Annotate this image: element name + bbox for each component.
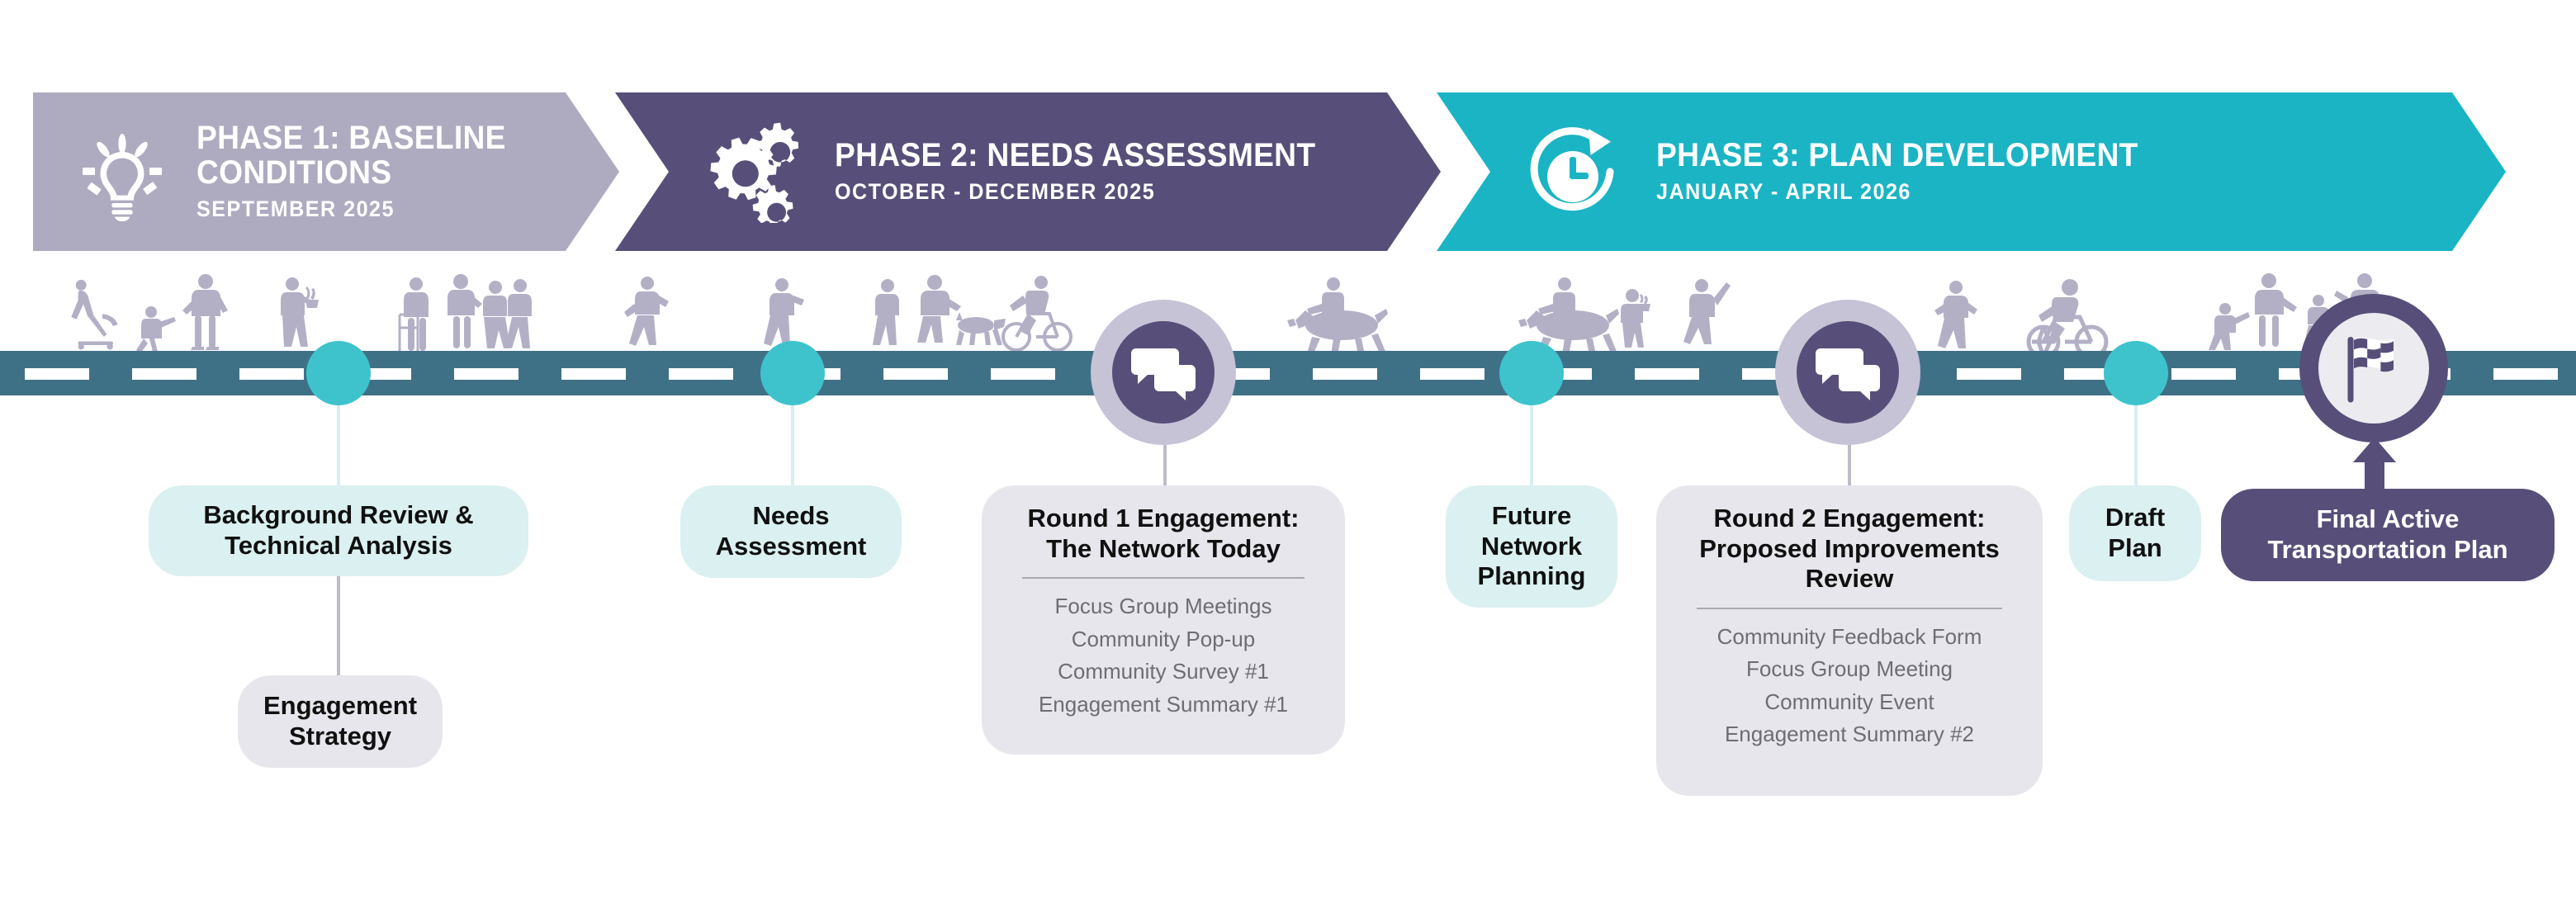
phase-3-text: PHASE 3: PLAN DEVELOPMENT JANUARY - APRI…: [1656, 139, 2175, 205]
lightbulb-icon: [76, 122, 168, 221]
card-round-2-engagement[interactable]: Round 2 Engagement: Proposed Improvement…: [1656, 485, 2043, 796]
clock-arrow-icon: [1527, 121, 1627, 223]
list-item: Community Survey #1: [997, 656, 1330, 689]
phase-1-text: PHASE 1: BASELINE CONDITIONS SEPTEMBER 2…: [197, 121, 529, 221]
milestone-dot-future-network[interactable]: [1499, 341, 1564, 405]
card-title-draft-plan: Draft Plan: [2105, 503, 2165, 563]
card-future-network-planning[interactable]: Future Network Planning: [1446, 485, 1617, 608]
phase-1-title: PHASE 1: BASELINE CONDITIONS: [197, 121, 506, 190]
list-item: Community Feedback Form: [1671, 621, 2028, 654]
phase-1-banner[interactable]: PHASE 1: BASELINE CONDITIONS SEPTEMBER 2…: [33, 92, 619, 251]
people-silhouettes: [0, 272, 2576, 355]
card-title-engagement-strategy: Engagement Strategy: [263, 691, 417, 751]
phase-3-banner[interactable]: PHASE 3: PLAN DEVELOPMENT JANUARY - APRI…: [1437, 92, 2506, 251]
list-item: Focus Group Meeting: [1671, 653, 2028, 686]
list-item: Engagement Summary #2: [1671, 718, 2028, 751]
card-draft-plan[interactable]: Draft Plan: [2069, 485, 2201, 581]
list-item: Engagement Summary #1: [997, 689, 1330, 722]
engagement-marker-round-2[interactable]: [1775, 300, 1920, 445]
gears-icon: [706, 121, 807, 223]
card-final-plan[interactable]: Final Active Transportation Plan: [2221, 489, 2555, 581]
phase-2-banner[interactable]: PHASE 2: NEEDS ASSESSMENT OCTOBER - DECE…: [615, 92, 1441, 251]
phase-3-dates: JANUARY - APRIL 2026: [1656, 179, 2138, 205]
engagement-marker-round-1[interactable]: [1091, 300, 1236, 445]
card-subitems-round-2: Community Feedback Form Focus Group Meet…: [1671, 621, 2028, 751]
phase-2-title: PHASE 2: NEEDS ASSESSMENT: [835, 139, 1315, 173]
milestone-dot-draft-plan[interactable]: [2104, 341, 2168, 405]
card-title-round-1-engagement: Round 1 Engagement: The Network Today: [1028, 504, 1300, 564]
card-subitems-round-1: Focus Group Meetings Community Pop-up Co…: [997, 590, 1330, 721]
card-round-1-engagement[interactable]: Round 1 Engagement: The Network Today Fo…: [982, 485, 1345, 755]
list-item: Community Pop-up: [997, 623, 1330, 656]
card-engagement-strategy[interactable]: Engagement Strategy: [238, 675, 443, 768]
milestone-dot-background-review[interactable]: [306, 341, 371, 405]
phase-2-text: PHASE 2: NEEDS ASSESSMENT OCTOBER - DECE…: [835, 139, 1352, 205]
card-title-final-plan: Final Active Transportation Plan: [2267, 504, 2507, 565]
card-divider: [1697, 608, 2002, 609]
speech-bubbles-icon: [1131, 343, 1196, 401]
card-divider: [1022, 577, 1305, 579]
phase-2-dates: OCTOBER - DECEMBER 2025: [835, 179, 1315, 205]
phase-banner: PHASE 1: BASELINE CONDITIONS SEPTEMBER 2…: [0, 92, 2576, 251]
card-title-background-review: Background Review & Technical Analysis: [203, 500, 473, 561]
phase-3-title: PHASE 3: PLAN DEVELOPMENT: [1656, 139, 2138, 173]
road-path: [0, 351, 2576, 395]
card-title-round-2-engagement: Round 2 Engagement: Proposed Improvement…: [1699, 504, 1999, 594]
card-background-review[interactable]: Background Review & Technical Analysis: [149, 485, 528, 576]
card-title-needs-assessment: Needs Assessment: [716, 501, 867, 561]
card-title-future-network-planning: Future Network Planning: [1478, 501, 1586, 592]
timeline-infographic: PHASE 1: BASELINE CONDITIONS SEPTEMBER 2…: [0, 0, 2576, 904]
milestone-dot-needs-assessment[interactable]: [760, 341, 825, 405]
speech-bubbles-icon: [1816, 343, 1880, 401]
list-item: Focus Group Meetings: [997, 590, 1330, 623]
list-item: Community Event: [1671, 686, 2028, 719]
final-plan-marker[interactable]: [2299, 294, 2448, 443]
phase-1-dates: SEPTEMBER 2025: [197, 196, 506, 222]
checkered-flag-icon: [2334, 329, 2413, 408]
card-needs-assessment[interactable]: Needs Assessment: [680, 485, 902, 578]
